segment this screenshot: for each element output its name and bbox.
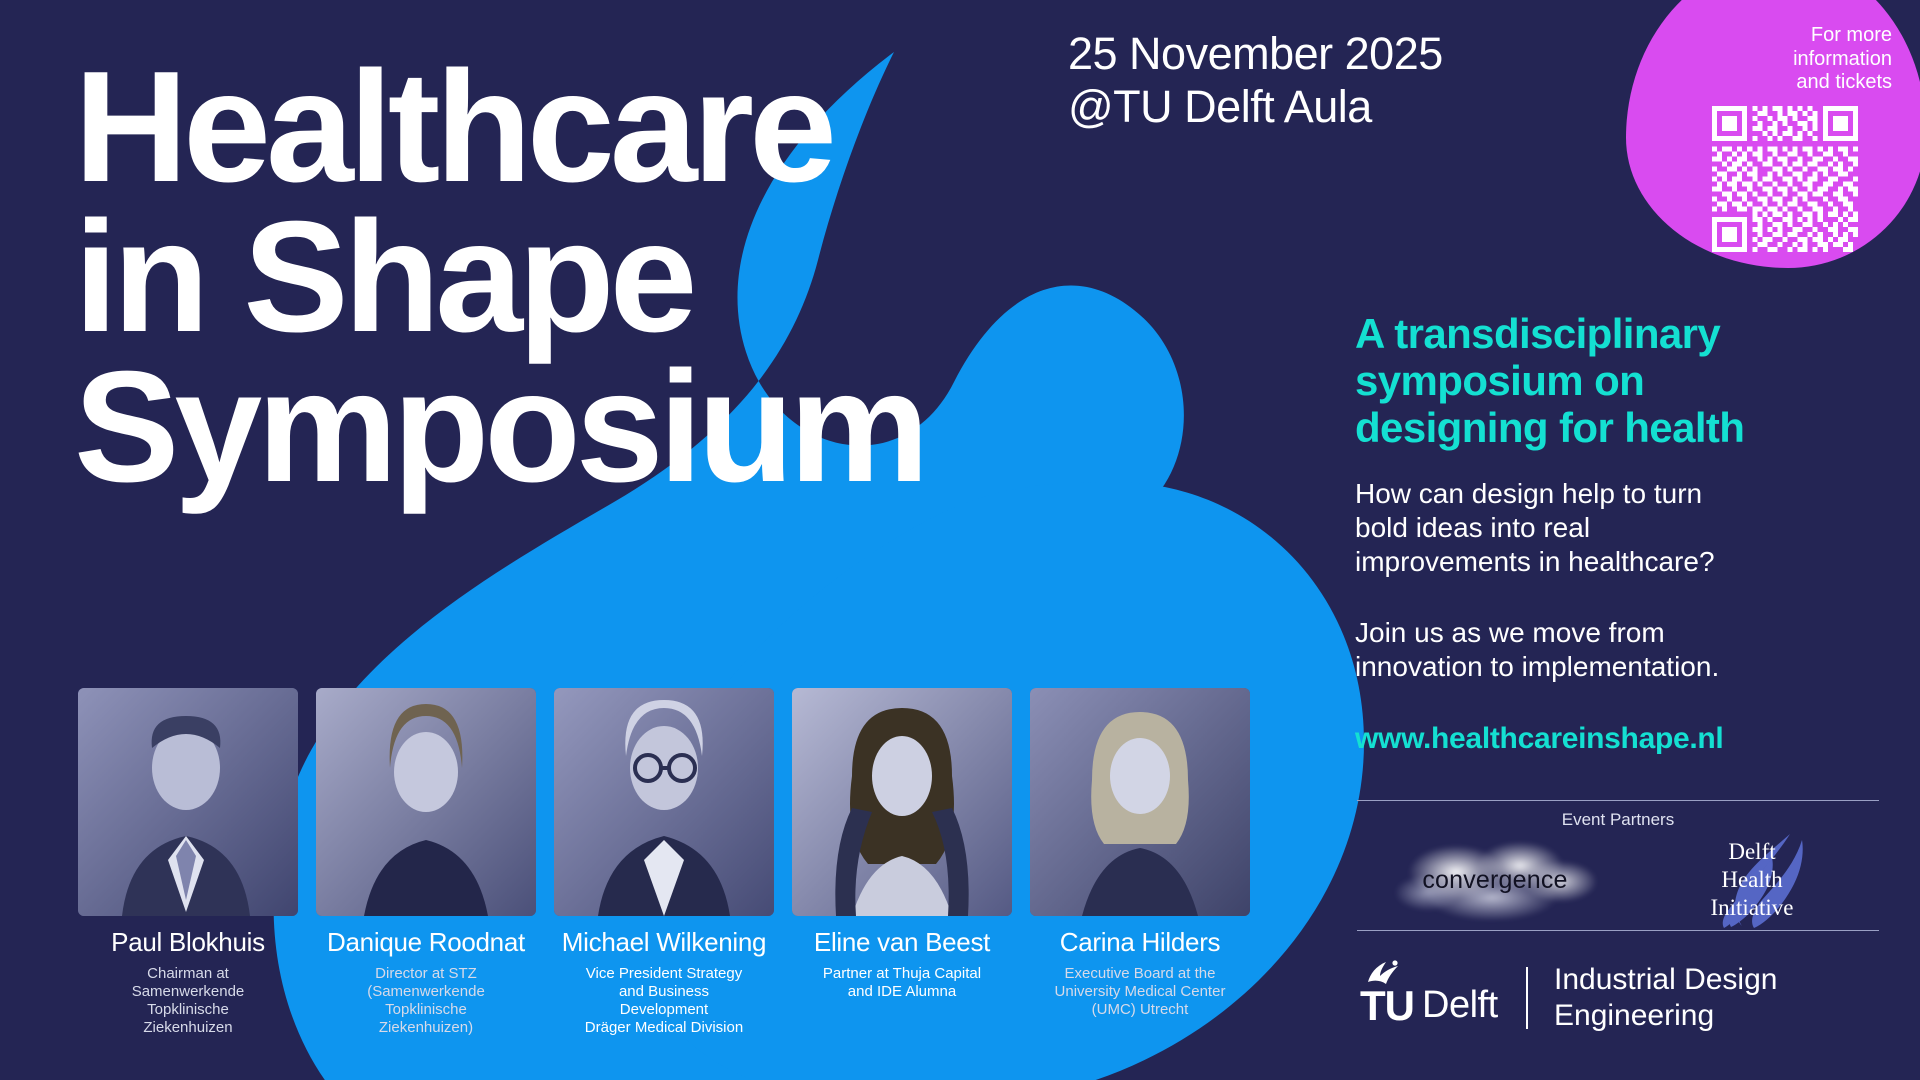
speaker-name: Carina Hilders (1030, 927, 1250, 958)
convergence-wordmark: convergence (1388, 866, 1603, 895)
speaker-name: Paul Blokhuis (78, 927, 298, 958)
speaker-card[interactable]: Carina Hilders Executive Board at the Un… (1030, 688, 1250, 1036)
speakers-row: Paul Blokhuis Chairman at Samenwerkende … (78, 688, 1250, 1036)
tu-delft-logo: TU Delft (1360, 966, 1492, 1030)
partners-divider-top (1357, 800, 1879, 801)
poster-title: Healthcare in Shape Symposium (74, 52, 1134, 502)
info-headline: A transdisciplinary symposium on designi… (1355, 310, 1880, 451)
tu-wordmark: TU (1360, 982, 1414, 1030)
info-paragraph-2: Join us as we move from innovation to im… (1355, 616, 1880, 684)
portrait-carina-hilders (1030, 688, 1250, 916)
partners-label: Event Partners (1357, 810, 1879, 830)
speaker-role: Director at STZ (Samenwerkende Topklinis… (316, 965, 536, 1036)
portrait-paul-blokhuis (78, 688, 298, 916)
delft-wordmark: Delft (1422, 984, 1498, 1027)
event-partners: Event Partners convergence Delft Health … (1357, 800, 1879, 928)
faculty-name: Industrial Design Engineering (1554, 962, 1777, 1034)
qr-caption: For more information and tickets (1626, 24, 1892, 95)
event-date-venue: 25 November 2025 @TU Delft Aula (1068, 28, 1443, 133)
delft-health-initiative-wordmark: Delft Health Initiative (1664, 838, 1841, 922)
speaker-name: Eline van Beest (792, 927, 1012, 958)
portrait-eline-van-beest (792, 688, 1012, 916)
qr-badge[interactable]: For more information and tickets (1626, 0, 1920, 268)
speaker-card[interactable]: Paul Blokhuis Chairman at Samenwerkende … (78, 688, 298, 1036)
speaker-name: Michael Wilkening (554, 927, 774, 958)
convergence-cloud-logo: convergence (1388, 834, 1603, 926)
website-link[interactable]: www.healthcareinshape.nl (1355, 722, 1880, 756)
title-line-1: Healthcare (74, 52, 1134, 202)
info-column: A transdisciplinary symposium on designi… (1355, 310, 1880, 756)
footer-divider (1526, 967, 1528, 1029)
speaker-name: Danique Roodnat (316, 927, 536, 958)
info-paragraph-1: How can design help to turn bold ideas i… (1355, 477, 1880, 579)
partners-divider-bottom (1357, 930, 1879, 931)
qr-code-icon[interactable] (1712, 106, 1858, 252)
speaker-role: Executive Board at the University Medica… (1030, 965, 1250, 1019)
speaker-role: Partner at Thuja Capital and IDE Alumna (792, 965, 1012, 1001)
delft-health-initiative-logo: Delft Health Initiative (1664, 832, 1849, 928)
speaker-card[interactable]: Michael Wilkening Vice President Strateg… (554, 688, 774, 1036)
partners-logos: convergence Delft Health Initiative (1357, 832, 1879, 928)
speaker-role: Chairman at Samenwerkende Topklinische Z… (78, 965, 298, 1036)
portrait-danique-roodnat (316, 688, 536, 916)
title-line-2: in Shape (74, 202, 1134, 352)
tu-delft-footer: TU Delft Industrial Design Engineering (1360, 962, 1777, 1034)
portrait-michael-wilkening (554, 688, 774, 916)
speaker-card[interactable]: Danique Roodnat Director at STZ (Samenwe… (316, 688, 536, 1036)
title-line-3: Symposium (74, 352, 1134, 502)
speaker-role: Vice President Strategy and Business Dev… (554, 965, 774, 1036)
speaker-card[interactable]: Eline van Beest Partner at Thuja Capital… (792, 688, 1012, 1036)
